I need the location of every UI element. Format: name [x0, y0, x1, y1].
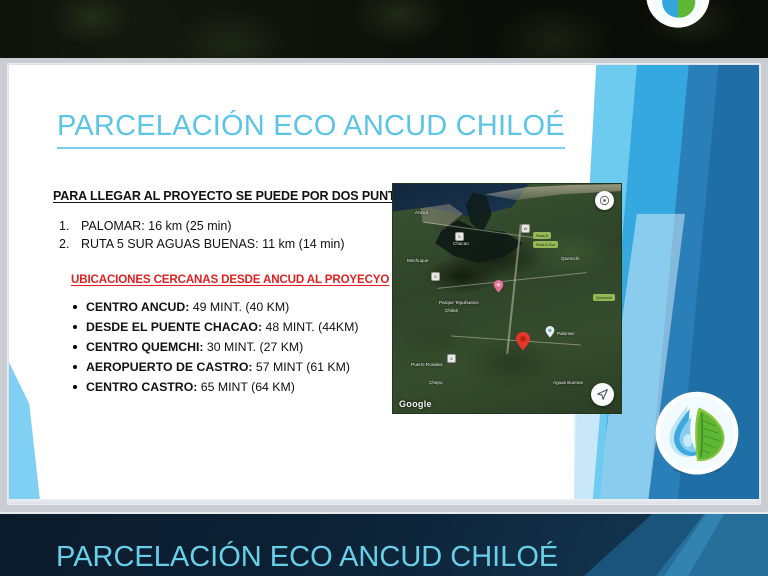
nearby-locations-list: CENTRO ANCUD: 49 MINT. (40 KM) DESDE EL …	[73, 300, 403, 394]
list-item-value: 30 MINT. (27 KM)	[207, 340, 303, 354]
map-label: Mechuque	[407, 258, 428, 263]
eco-logo-icon	[651, 389, 743, 481]
heading-access-routes: PARA LLEGAR AL PROYECTO SE PUEDE POR DOS…	[53, 189, 403, 203]
list-item-value: 65 MINT (64 KM)	[201, 380, 295, 394]
map-road-shield: 5	[431, 272, 440, 281]
bullet-icon	[73, 325, 77, 329]
map-label: Puerto Rosales	[411, 362, 442, 367]
list-item-label: PALOMAR: 16 km (25 min)	[81, 219, 232, 233]
list-item-value: 57 MINT (61 KM)	[256, 360, 350, 374]
list-item-label: CENTRO ANCUD:	[86, 300, 189, 314]
list-item: 2. RUTA 5 SUR AGUAS BUENAS: 11 km (14 mi…	[59, 237, 403, 251]
list-item: CENTRO CASTRO: 65 MINT (64 KM)	[73, 380, 403, 394]
heading-nearby-locations: UBICACIONES CERCANAS DESDE ANCUD AL PROY…	[71, 273, 403, 286]
presentation-scroll-view: PARCELACIÓN ECO ANCUD CHILOÉ PARA LLEGAR…	[0, 0, 768, 576]
list-item-label: DESDE EL PUENTE CHACAO:	[86, 320, 262, 334]
compass-icon	[599, 195, 610, 206]
map-label: Ancud	[415, 210, 428, 215]
list-item-index: 2.	[59, 237, 73, 251]
eco-logo-icon	[632, 0, 724, 32]
map-route-label: Ruta 5 Sur	[533, 241, 558, 248]
map-poi-label: Chiloé	[445, 308, 458, 313]
map-compass-button[interactable]	[595, 191, 614, 210]
map-road-shield: 5	[455, 232, 464, 241]
list-item-label: CENTRO CASTRO:	[86, 380, 197, 394]
map-poi-label: Palomar	[557, 331, 574, 336]
previous-slide-partial[interactable]	[0, 0, 768, 58]
map-road-shield: W	[521, 224, 530, 233]
map-route-label: Quemchi	[593, 294, 615, 301]
slide-body: PARA LLEGAR AL PROYECTO SE PUEDE POR DOS…	[53, 189, 403, 400]
list-item-label: AEROPUERTO DE CASTRO:	[86, 360, 252, 374]
next-slide-title: PARCELACIÓN ECO ANCUD CHILOÉ	[56, 541, 558, 574]
map-label: Chepu	[429, 380, 443, 385]
list-item: CENTRO QUEMCHI: 30 MINT. (27 KM)	[73, 340, 403, 354]
bullet-icon	[73, 345, 77, 349]
list-item-value: 48 MINT. (44KM)	[265, 320, 358, 334]
list-item-label: CENTRO QUEMCHI:	[86, 340, 204, 354]
list-item: CENTRO ANCUD: 49 MINT. (40 KM)	[73, 300, 403, 314]
bullet-icon	[73, 365, 77, 369]
list-item-index: 1.	[59, 219, 73, 233]
red-marker-icon[interactable]	[515, 332, 531, 351]
map-label: Chacao	[453, 241, 469, 246]
list-item: AEROPUERTO DE CASTRO: 57 MINT (61 KM)	[73, 360, 403, 374]
pink-marker-icon	[493, 280, 504, 293]
map-poi-label: Parque Tepuhueico	[439, 300, 479, 305]
location-map-image[interactable]: Ancud Chacao Mechuque Quemchi Puerto Ros…	[392, 183, 622, 414]
list-item: DESDE EL PUENTE CHACAO: 48 MINT. (44KM)	[73, 320, 403, 334]
current-slide[interactable]: PARCELACIÓN ECO ANCUD CHILOÉ PARA LLEGAR…	[8, 64, 760, 504]
white-marker-icon	[545, 326, 555, 338]
map-label: Aguas Buenas	[553, 380, 583, 385]
map-route-label: Ruta 5	[533, 232, 551, 239]
navigate-icon	[596, 388, 609, 401]
list-item-value: 49 MINT. (40 KM)	[193, 300, 289, 314]
map-navigate-button[interactable]	[591, 383, 614, 406]
list-item-label: RUTA 5 SUR AGUAS BUENAS: 11 km (14 min)	[81, 237, 345, 251]
map-road-shield: 5	[447, 354, 456, 363]
bullet-icon	[73, 305, 77, 309]
google-watermark: Google	[399, 399, 432, 409]
bullet-icon	[73, 385, 77, 389]
access-routes-list: 1. PALOMAR: 16 km (25 min) 2. RUTA 5 SUR…	[59, 219, 403, 251]
list-item: 1. PALOMAR: 16 km (25 min)	[59, 219, 403, 233]
next-slide-partial[interactable]: PARCELACIÓN ECO ANCUD CHILOÉ	[0, 512, 768, 576]
page-title: PARCELACIÓN ECO ANCUD CHILOÉ	[57, 110, 565, 149]
map-label: Quemchi	[561, 256, 579, 261]
